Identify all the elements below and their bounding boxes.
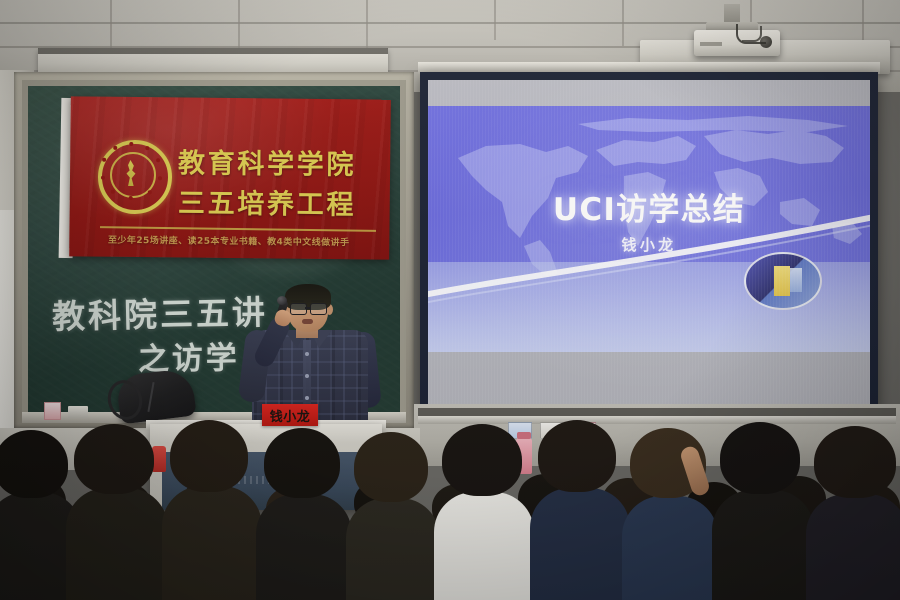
speaker-eyebrow-right (311, 300, 324, 302)
glass-panel-icon (790, 268, 802, 292)
audience-body-front (346, 498, 440, 600)
projector-cable (742, 26, 762, 42)
audience (0, 390, 900, 600)
lecture-hall-photo: 教科院三五讲 之访学 教育科学学院 三五培养工程 至少年25场讲座、读25本专业… (0, 0, 900, 600)
audience-head-front (720, 422, 800, 494)
audience-head-front (170, 420, 248, 492)
audience-body-front (66, 488, 168, 600)
bottle-pink-cap (517, 432, 531, 439)
presentation-slide: UCI访学总结 钱小龙 (428, 106, 870, 352)
audience-head-front (442, 424, 522, 496)
audience-head-front (538, 420, 616, 492)
shirt-button (305, 374, 309, 378)
valance-shadow (38, 48, 388, 54)
audience-head-front (0, 430, 68, 498)
eyeglasses-bridge (305, 307, 311, 309)
audience-head-front (814, 426, 896, 498)
audience-body-front (806, 494, 900, 600)
ceiling-grid-line (862, 0, 864, 44)
microphone-head (277, 296, 287, 305)
audience-body-front (434, 492, 534, 600)
speaker-eyebrow-left (291, 300, 304, 302)
audience-head-front (74, 424, 154, 494)
projector-vent (700, 42, 722, 46)
audience-head-front (354, 432, 428, 502)
audience-body-front (530, 488, 630, 600)
shirt-button (305, 352, 309, 356)
projection-screen[interactable]: UCI访学总结 钱小龙 (428, 80, 870, 404)
eyeglasses-lens-left (290, 303, 307, 315)
banner-line-1: 教育科学学院 (178, 141, 357, 182)
audience-body-front (162, 486, 262, 600)
audience-body-front (712, 490, 814, 600)
banner-subtext: 至少年25场讲座、读25本专业书籍、教4类中文线做讲手 (108, 233, 350, 249)
emblem-stars (98, 140, 165, 207)
speaker-mouth (302, 319, 313, 324)
slide-oval-graphic (744, 252, 822, 310)
banner-line-2: 三五培养工程 (178, 181, 357, 222)
hourglass-icon (774, 266, 790, 296)
audience-body-front (256, 494, 352, 600)
bottle-red[interactable] (152, 446, 166, 472)
ceiling-grid-line (366, 0, 368, 50)
blackboard-text-line-1: 教科院三五讲 (52, 286, 269, 339)
ceiling-grid-line (622, 0, 624, 46)
audience-head-front (264, 428, 340, 498)
slide-title: UCI访学总结 (428, 184, 870, 229)
ceiling-grid-line (494, 0, 496, 40)
audience-body-front (622, 496, 718, 600)
eyeglasses-lens-right (310, 303, 327, 315)
slide-subtitle: 钱小龙 (428, 234, 870, 255)
